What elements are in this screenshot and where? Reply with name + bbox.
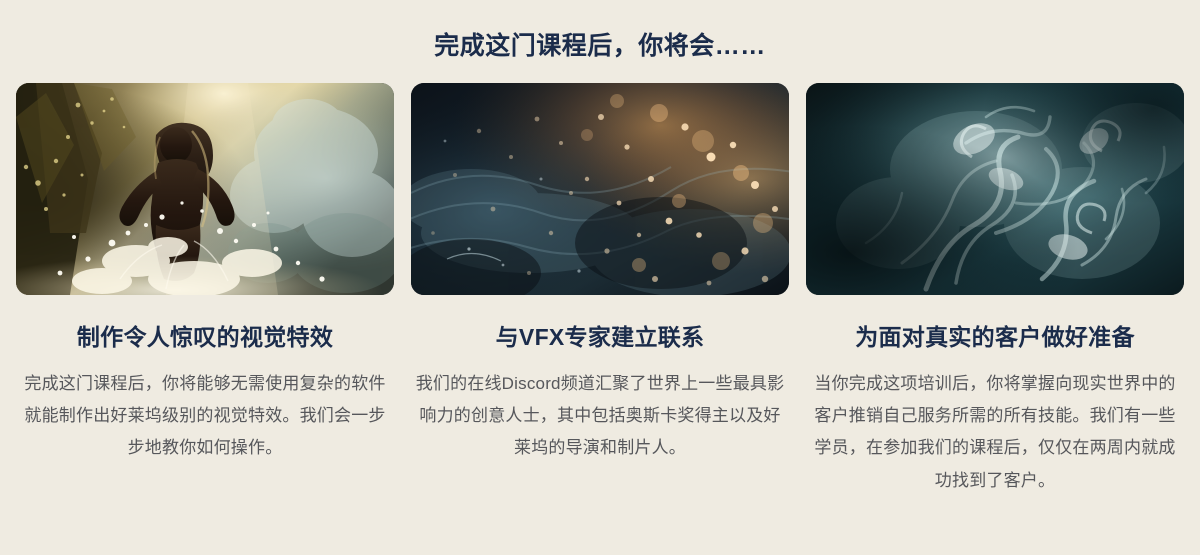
benefit-card: 为面对真实的客户做好准备 当你完成这项培训后，你将掌握向现实世界中的客户推销自己… (806, 83, 1184, 497)
card-heading: 与VFX专家建立联系 (496, 323, 705, 352)
card-image-runner-in-golden-water-splash (16, 83, 394, 295)
benefit-card: 与VFX专家建立联系 我们的在线Discord频道汇聚了世界上一些最具影响力的创… (411, 83, 789, 497)
benefit-card: 制作令人惊叹的视觉特效 完成这门课程后，你将能够无需使用复杂的软件就能制作出好莱… (16, 83, 394, 497)
card-heading: 制作令人惊叹的视觉特效 (77, 323, 333, 352)
section-title: 完成这门课程后，你将会…… (0, 0, 1200, 61)
card-heading: 为面对真实的客户做好准备 (855, 323, 1135, 352)
benefits-section: 完成这门课程后，你将会…… (0, 0, 1200, 555)
card-image-teal-smoke-wisps (806, 83, 1184, 295)
card-body-text: 完成这门课程后，你将能够无需使用复杂的软件就能制作出好莱坞级别的视觉特效。我们会… (19, 368, 391, 465)
benefit-cards-row: 制作令人惊叹的视觉特效 完成这门课程后，你将能够无需使用复杂的软件就能制作出好莱… (0, 83, 1200, 497)
card-body-text: 我们的在线Discord频道汇聚了世界上一些最具影响力的创意人士，其中包括奥斯卡… (414, 368, 786, 465)
card-image-blue-smoke-with-golden-bokeh-particles (411, 83, 789, 295)
card-body-text: 当你完成这项培训后，你将掌握向现实世界中的客户推销自己服务所需的所有技能。我们有… (809, 368, 1181, 497)
